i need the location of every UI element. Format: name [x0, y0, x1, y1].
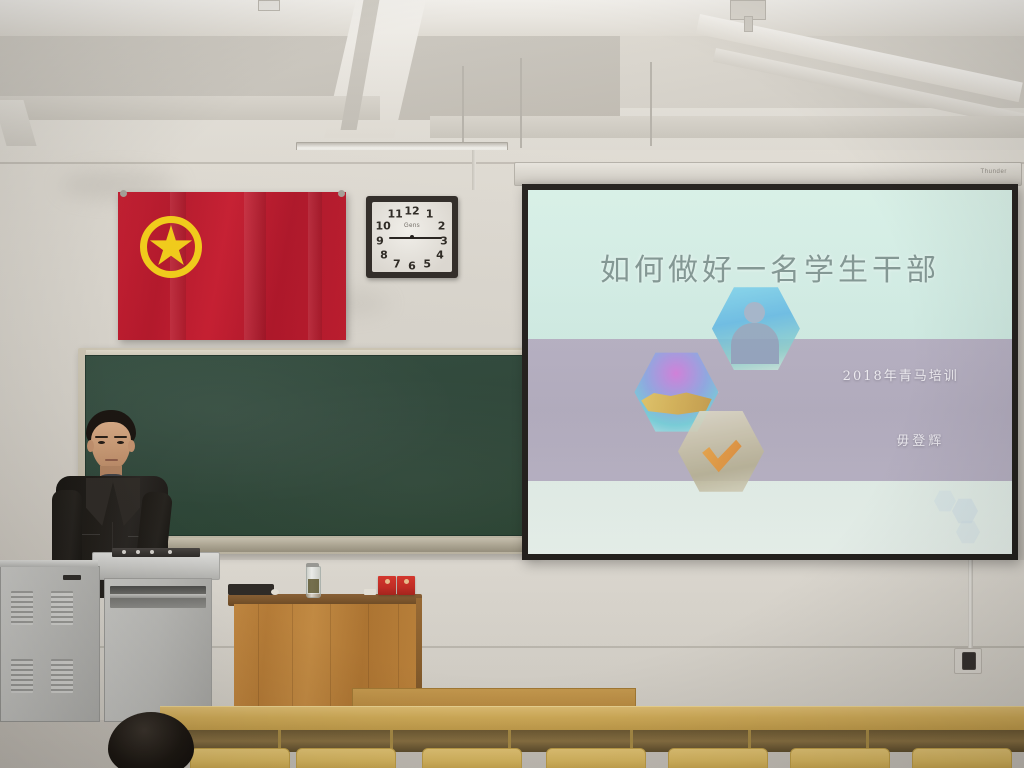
clock-numeral-5: 5 — [423, 259, 431, 270]
projection-screen[interactable]: 如何做好一名学生干部 2018年青马培训 毋登辉 — [522, 184, 1018, 560]
red-box-seal-icon — [385, 579, 390, 584]
bench-desktop-row-1 — [160, 706, 1024, 731]
cabinet-top-edge — [0, 560, 98, 567]
youth-league-emblem-circle-icon — [140, 216, 202, 278]
ceiling-wire-a — [462, 66, 464, 146]
desk-grain-a — [258, 604, 259, 708]
clock-hour-hand — [389, 237, 412, 239]
speaker-eye-right — [117, 441, 124, 444]
clock-numeral-2: 2 — [438, 220, 446, 231]
clock-numeral-11: 11 — [388, 208, 403, 219]
flag-fold-c — [308, 192, 322, 340]
clock-center-pivot — [410, 235, 414, 239]
clock-numeral-1: 1 — [426, 208, 434, 219]
seat-7[interactable] — [912, 748, 1012, 768]
checkmark-icon — [702, 438, 742, 474]
red-box-right[interactable] — [397, 576, 415, 595]
flag-pin-left — [120, 190, 127, 197]
cabinet-vent-top-right — [51, 591, 73, 625]
speaker-brow-right — [114, 436, 127, 438]
clock-numeral-10: 10 — [376, 220, 391, 231]
ceiling-beam-top — [0, 0, 1024, 36]
control-knob-a[interactable] — [122, 550, 126, 554]
ceiling-wire-b — [520, 58, 522, 148]
control-knob-d[interactable] — [168, 550, 172, 554]
cabinet-vent-bottom-right — [51, 659, 73, 693]
presentation-slide: 如何做好一名学生干部 2018年青马培训 毋登辉 — [528, 190, 1012, 554]
tea-jar[interactable] — [306, 566, 321, 598]
clock-numeral-4: 4 — [436, 250, 444, 261]
classroom-photo: 12 1 2 3 4 5 6 7 8 9 10 11 Gens Thunder — [0, 0, 1024, 768]
speaker-face — [91, 422, 131, 470]
seat-1[interactable] — [190, 748, 290, 768]
small-round-object[interactable] — [271, 589, 279, 595]
control-knob-b[interactable] — [136, 550, 140, 554]
clock-numeral-9: 9 — [376, 235, 384, 246]
wall-clock: 12 1 2 3 4 5 6 7 8 9 10 11 Gens — [366, 196, 458, 278]
dark-object[interactable] — [228, 584, 274, 595]
seat-3[interactable] — [422, 748, 522, 768]
speaker-mouth — [105, 459, 118, 461]
seat-2[interactable] — [296, 748, 396, 768]
tea-jar-lid[interactable] — [306, 563, 319, 567]
screen-brand-label: Thunder — [980, 169, 1007, 175]
ceiling-hook-stem — [744, 16, 753, 32]
ceiling-beam-ledge-left — [0, 96, 380, 120]
cabinet-label — [63, 575, 81, 580]
communist-youth-league-flag — [118, 192, 346, 340]
light-switch[interactable] — [962, 652, 976, 670]
flag-fold-b — [244, 192, 266, 340]
cabinet-vent-bottom-left — [11, 659, 33, 693]
clock-numeral-6: 6 — [408, 260, 416, 271]
jacket-lapel-left — [86, 478, 114, 526]
slide-presenter-name: 毋登辉 — [896, 430, 944, 449]
red-box-seal-icon — [404, 579, 409, 584]
cabinet-vent-top-left — [11, 591, 33, 625]
speaker-ear-left — [87, 440, 94, 452]
seat-4[interactable] — [546, 748, 646, 768]
clock-minute-hand — [412, 237, 442, 239]
equipment-cabinet — [0, 566, 100, 722]
seat-6[interactable] — [790, 748, 890, 768]
clock-numeral-12: 12 — [404, 206, 419, 217]
control-knob-c[interactable] — [150, 550, 154, 554]
person-head-icon — [744, 302, 765, 323]
five-point-star-icon — [149, 225, 193, 269]
clock-numeral-8: 8 — [380, 250, 388, 261]
projection-screen-housing[interactable]: Thunder — [514, 162, 1022, 186]
slide-title: 如何做好一名学生干部 — [528, 245, 1012, 289]
desk-grain-b — [292, 604, 293, 708]
jacket-lapel-right — [112, 478, 140, 526]
seat-5[interactable] — [668, 748, 768, 768]
flag-pin-right — [338, 190, 345, 197]
slide-subtitle: 2018年青马培训 — [843, 365, 959, 384]
clock-brand-label: Gens — [404, 223, 420, 229]
red-box-left[interactable] — [378, 576, 396, 595]
speaker-ear-right — [128, 440, 135, 452]
person-body-icon — [731, 323, 779, 363]
lectern-control-panel[interactable] — [112, 548, 200, 557]
clock-numeral-7: 7 — [393, 259, 401, 270]
speaker-brow-left — [95, 436, 108, 438]
tea-leaves — [308, 579, 319, 593]
ceiling-wire-c — [650, 62, 652, 146]
ceiling-hook-left — [258, 0, 280, 11]
white-object[interactable] — [364, 589, 376, 595]
clock-face: 12 1 2 3 4 5 6 7 8 9 10 11 Gens — [372, 202, 452, 272]
wall-conduit-upper — [472, 150, 476, 190]
desk-grain-c — [330, 604, 331, 708]
lectern-shelf — [110, 594, 206, 598]
speaker-eye-left — [98, 441, 105, 444]
